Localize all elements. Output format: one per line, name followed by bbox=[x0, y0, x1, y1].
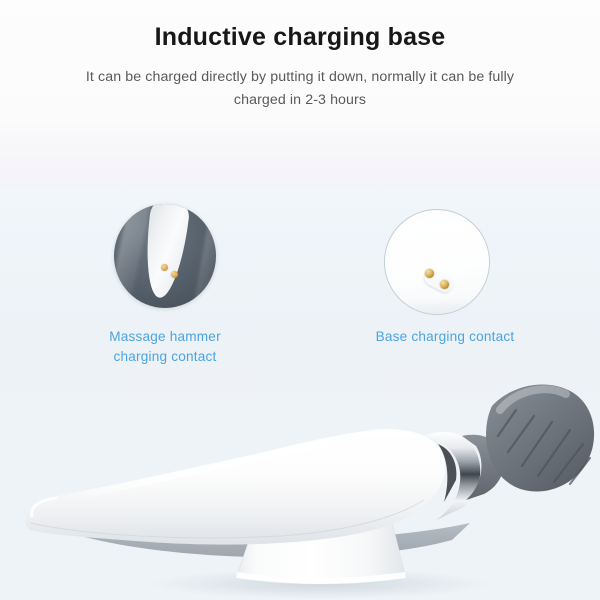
product-photo bbox=[0, 340, 600, 600]
base-shadow bbox=[384, 299, 490, 315]
hammer-body bbox=[25, 429, 445, 544]
massage-hammer-contact-closeup bbox=[114, 204, 216, 308]
gold-contact-pin bbox=[161, 264, 168, 271]
subtitle-line-2: charged in 2-3 hours bbox=[234, 92, 366, 108]
header: Inductive charging base It can be charge… bbox=[0, 0, 600, 112]
gold-contact-pin bbox=[171, 271, 178, 278]
gold-contact-pin bbox=[425, 269, 434, 278]
subtitle-line-1: It can be charged directly by putting it… bbox=[86, 69, 514, 85]
page-subtitle: It can be charged directly by putting it… bbox=[40, 52, 560, 113]
base-contact-closeup bbox=[384, 209, 490, 315]
highlight-right bbox=[191, 204, 216, 308]
product-feature-slide: Inductive charging base It can be charge… bbox=[0, 0, 600, 600]
gold-contact-pin bbox=[440, 280, 449, 289]
page-title: Inductive charging base bbox=[0, 0, 600, 52]
